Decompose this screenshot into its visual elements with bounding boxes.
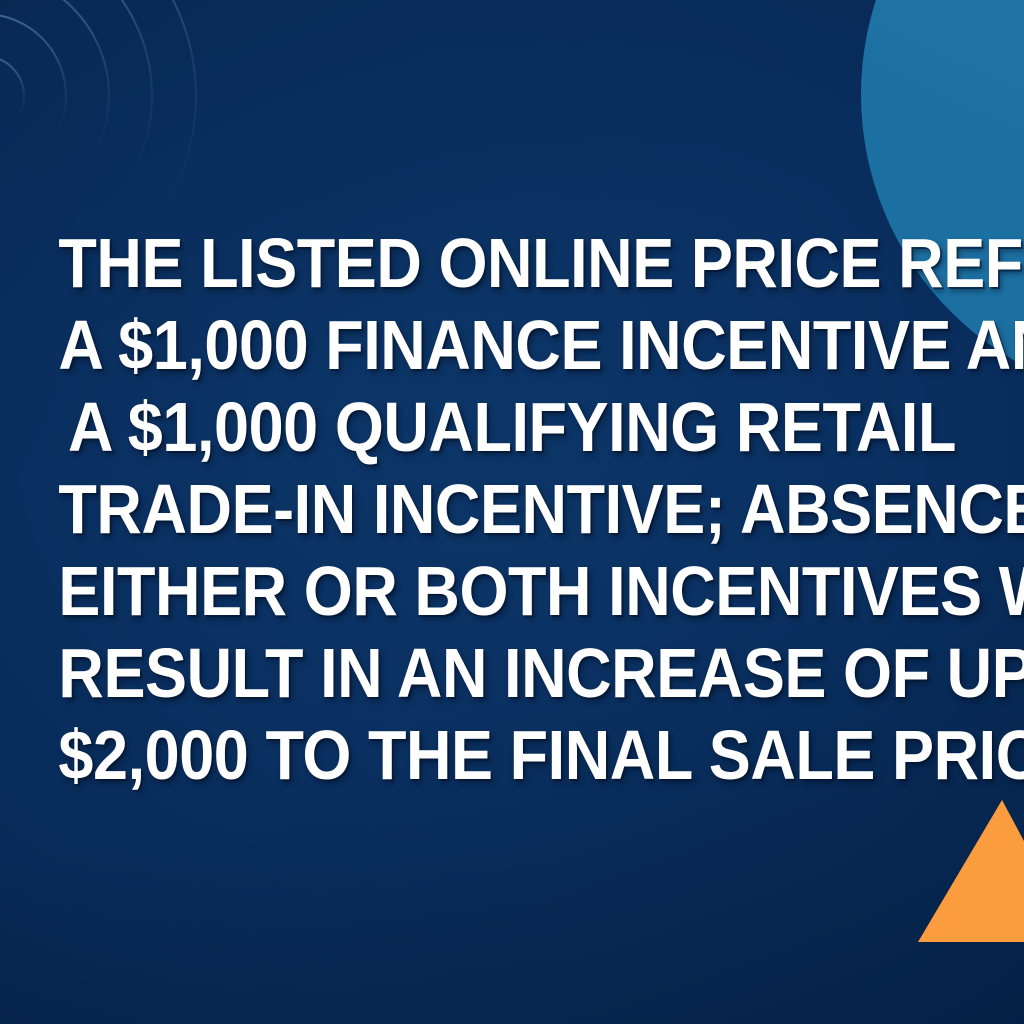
headline-line-5: EITHER OR BOTH INCENTIVES WILL xyxy=(58,550,965,632)
headline-line-3: A $1,000 QUALIFYING RETAIL xyxy=(58,386,965,468)
headline-line-2: A $1,000 FINANCE INCENTIVE AND xyxy=(58,304,965,386)
headline-line-6: RESULT IN AN INCREASE OF UP TO xyxy=(58,632,965,714)
headline-line-7: $2,000 TO THE FINAL SALE PRICE. xyxy=(58,714,965,796)
headline-line-4: TRADE-IN INCENTIVE; ABSENCE OF xyxy=(58,468,965,550)
headline-line-1: THE LISTED ONLINE PRICE REFLECTS xyxy=(58,222,965,304)
headline-block: THE LISTED ONLINE PRICE REFLECTS A $1,00… xyxy=(0,222,1024,796)
promo-disclaimer-graphic: THE LISTED ONLINE PRICE REFLECTS A $1,00… xyxy=(0,0,1024,1024)
